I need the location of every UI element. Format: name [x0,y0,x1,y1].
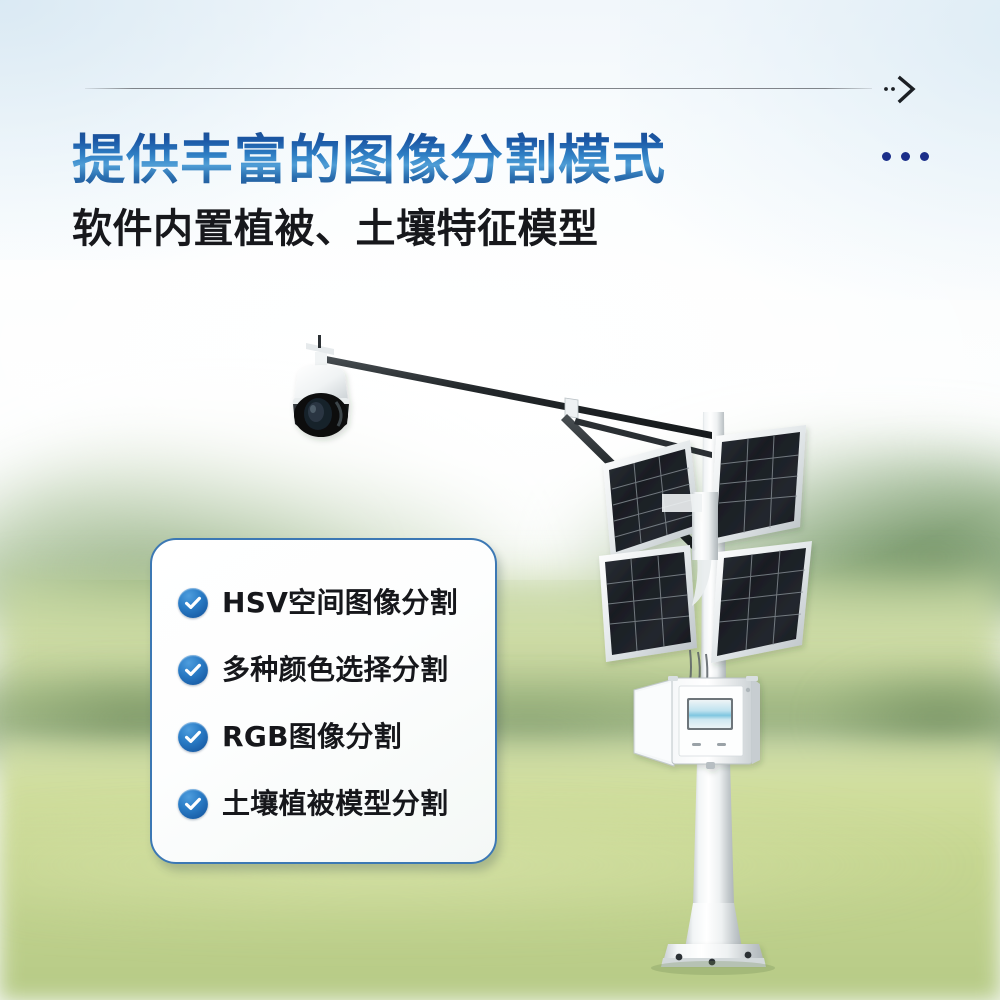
list-item[interactable]: 土壤植被模型分割 [178,783,495,825]
slide-canvas: 提供丰富的图像分割模式 软件内置植被、土壤特征模型 HSV空间图像分割 多种颜色… [0,0,1000,1000]
dot-2 [901,152,910,161]
dot-3 [920,152,929,161]
list-item-label: 土壤植被模型分割 [222,787,448,821]
feature-list: HSV空间图像分割 多种颜色选择分割 RGB图像分割 [152,540,495,862]
feature-card: HSV空间图像分割 多种颜色选择分割 RGB图像分割 [150,538,497,864]
list-item-label: RGB图像分割 [222,720,402,754]
list-item[interactable]: HSV空间图像分割 [178,582,495,624]
list-item[interactable]: RGB图像分割 [178,716,495,758]
list-item[interactable]: 多种颜色选择分割 [178,649,495,691]
header-divider-line [85,88,872,89]
check-circle-icon [178,588,208,618]
three-dots-icon [882,152,929,161]
check-circle-icon [178,789,208,819]
dot-1 [882,152,891,161]
landscape-tint-top-right [620,0,1000,300]
dashed-chevron-right-icon[interactable] [882,74,922,104]
list-item-label: HSV空间图像分割 [222,586,458,620]
page-subtitle: 软件内置植被、土壤特征模型 [72,203,599,255]
check-circle-icon [178,722,208,752]
check-circle-icon [178,655,208,685]
list-item-label: 多种颜色选择分割 [222,653,448,687]
page-title: 提供丰富的图像分割模式 [72,128,666,192]
